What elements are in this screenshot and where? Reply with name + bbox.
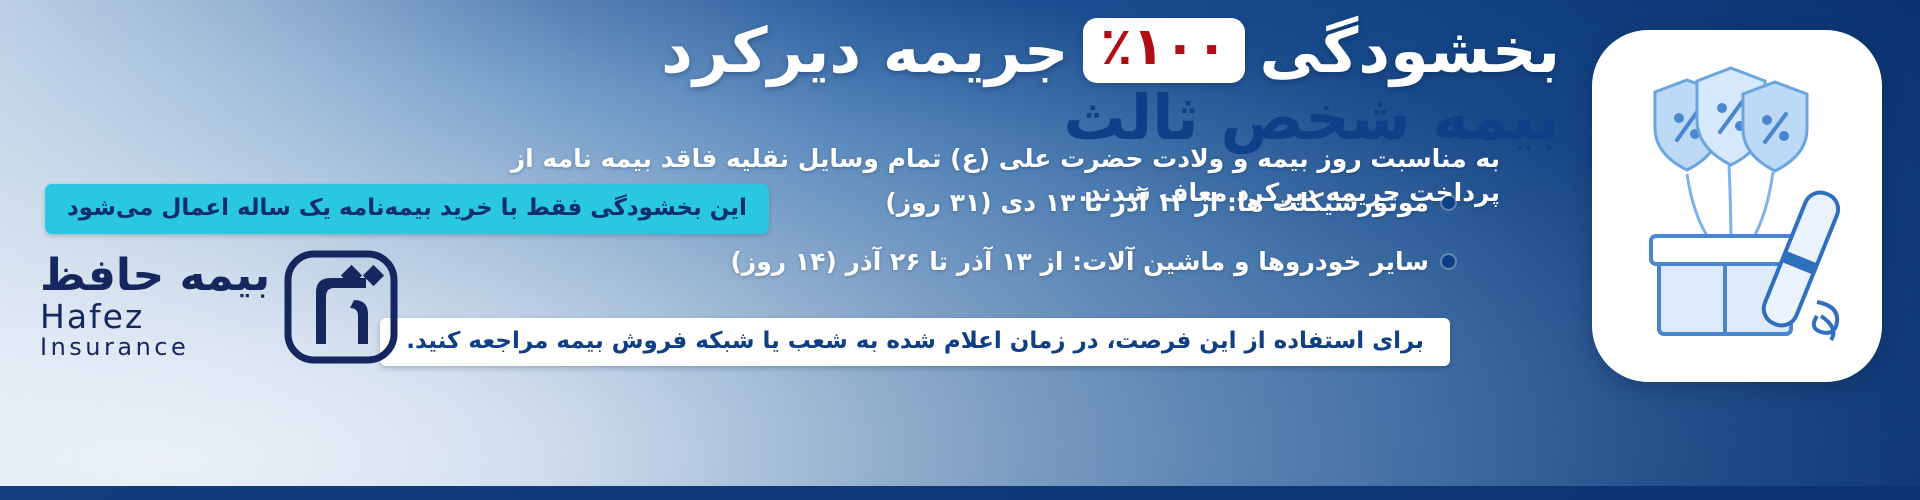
cyan-note-box: این بخشودگی فقط با خرید بیمه‌نامه یک سال… <box>45 184 769 234</box>
headline-line-2: بیمه شخص ثالث <box>80 85 1560 150</box>
headline-word-exemption: بخشودگی <box>1259 19 1560 82</box>
bullet-text-motorcycles: موتورسیکلت ها: از ۱۳ آذر تا ۱۳ دی (۳۱ رو… <box>885 188 1429 217</box>
bullet-list: موتورسیکلت ها: از ۱۳ آذر تا ۱۳ دی (۳۱ رو… <box>715 188 1455 306</box>
headline-line-1: بخشودگی ٪۱۰۰ جریمه دیرکرد <box>80 18 1560 83</box>
logo-name-fa: بیمه حافظ <box>40 254 270 298</box>
bullet-dot-icon <box>1442 255 1455 268</box>
hafez-insurance-logo: بیمه حافظ Hafez Insurance <box>40 248 400 366</box>
headline-block: بخشودگی ٪۱۰۰ جریمه دیرکرد بیمه شخص ثالث <box>80 18 1560 150</box>
promo-banner: بخشودگی ٪۱۰۰ جریمه دیرکرد بیمه شخص ثالث … <box>0 0 1920 500</box>
hafez-logo-text: بیمه حافظ Hafez Insurance <box>40 254 270 360</box>
gift-box-with-shields-icon <box>1621 66 1853 346</box>
headline-word-late-penalty: جریمه دیرکرد <box>661 19 1068 82</box>
bullet-dot-icon <box>1442 196 1455 209</box>
gift-illustration-panel <box>1592 30 1882 382</box>
bullet-text-other-vehicles: سایر خودروها و ماشین آلات: از ۱۳ آذر تا … <box>730 247 1429 276</box>
logo-name-en-sub: Insurance <box>40 335 270 360</box>
list-item: موتورسیکلت ها: از ۱۳ آذر تا ۱۳ دی (۳۱ رو… <box>715 188 1455 217</box>
cta-note-box: برای استفاده از این فرصت، در زمان اعلام … <box>380 318 1450 366</box>
hafez-logo-mark-icon <box>282 248 400 366</box>
bottom-strip <box>0 486 1920 500</box>
logo-name-en-main: Hafez <box>40 297 144 336</box>
percent-badge: ٪۱۰۰ <box>1083 18 1246 83</box>
logo-name-en: Hafez Insurance <box>40 300 270 360</box>
list-item: سایر خودروها و ماشین آلات: از ۱۳ آذر تا … <box>715 247 1455 276</box>
